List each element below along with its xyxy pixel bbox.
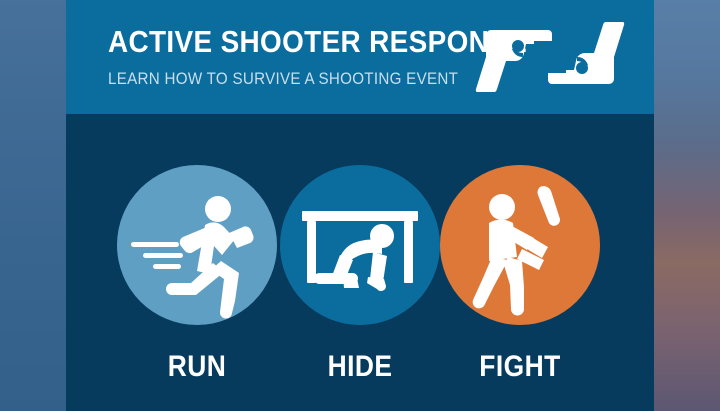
- pistols-artwork: [470, 22, 630, 92]
- running-person-icon: [117, 165, 277, 325]
- step-label-hide: HIDE: [290, 350, 431, 384]
- infographic-panel: ACTIVE SHOOTER RESPONSE LEARN HOW TO SUR…: [66, 0, 654, 411]
- step-circle-hide[interactable]: [280, 165, 440, 325]
- header-text-block: ACTIVE SHOOTER RESPONSE LEARN HOW TO SUR…: [108, 25, 488, 89]
- person-with-bat-icon: [440, 165, 600, 325]
- step-circle-run[interactable]: [117, 165, 277, 325]
- pistol-icon: [474, 30, 552, 92]
- steps-row: RUN HIDE FIGHT: [66, 114, 654, 411]
- infographic-screenshot: ACTIVE SHOOTER RESPONSE LEARN HOW TO SUR…: [0, 0, 720, 411]
- step-label-fight: FIGHT: [450, 350, 591, 384]
- step-label-run: RUN: [127, 350, 268, 384]
- pistol-mirrored-icon: [548, 22, 626, 84]
- pistols-svg: [470, 22, 630, 92]
- page-title: ACTIVE SHOOTER RESPONSE: [108, 25, 450, 58]
- steps-section: RUN HIDE FIGHT: [66, 114, 654, 411]
- page-subtitle: LEARN HOW TO SURVIVE A SHOOTING EVENT: [108, 70, 458, 89]
- header-banner: ACTIVE SHOOTER RESPONSE LEARN HOW TO SUR…: [66, 0, 654, 114]
- blurred-background-right: [650, 0, 720, 411]
- blurred-background-left: [0, 0, 70, 411]
- person-crawling-under-table-icon: [280, 165, 440, 325]
- step-circle-fight[interactable]: [440, 165, 600, 325]
